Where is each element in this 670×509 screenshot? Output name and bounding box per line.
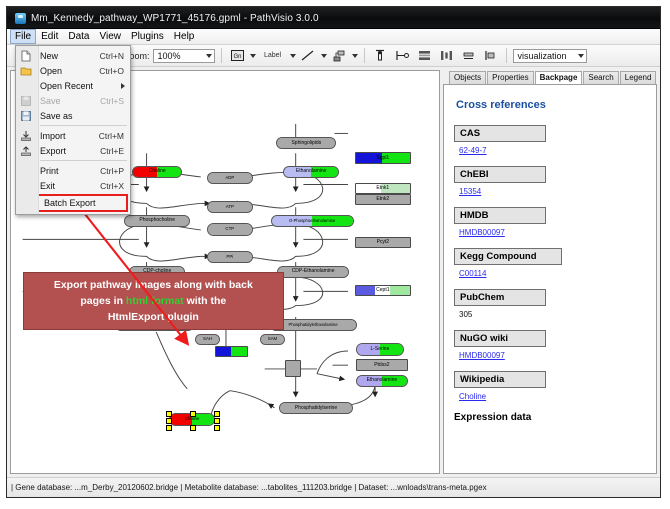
selection-handle[interactable]	[214, 411, 220, 417]
menu-item-save-label: Save	[40, 96, 100, 106]
line-button[interactable]	[299, 46, 318, 65]
node-label: ADP	[225, 176, 234, 180]
callout-line-2b: with the	[184, 295, 227, 307]
xref-header-hmdb: HMDB	[454, 207, 546, 224]
menu-separator	[40, 125, 127, 126]
datanode-button[interactable]: Gn	[228, 46, 247, 65]
datanode-dropdown-icon[interactable]	[250, 54, 256, 58]
node-label: Choline	[185, 417, 200, 421]
metabolite-node-o-phosphoethanolamine[interactable]: O-Phosphoethanolamine	[271, 215, 354, 227]
node-label: PPi	[226, 255, 233, 259]
gene-node-sgpl1[interactable]: Sgpl1	[355, 152, 411, 163]
menu-item-import-label: Import	[40, 131, 99, 141]
metabolite-node-sam[interactable]: SAM	[260, 334, 285, 345]
menu-item-batch-export-label: Batch Export	[44, 198, 126, 208]
metabolite-node-sah[interactable]: SAH	[195, 334, 220, 345]
callout-line-1: Export pathway images along with back	[54, 277, 253, 293]
tab-backpage[interactable]: Backpage	[535, 71, 583, 85]
node-label: Etnk1	[376, 186, 389, 191]
xref-header-chebi: ChEBI	[454, 166, 546, 183]
xref-header-wikipedia: Wikipedia	[454, 371, 546, 388]
menu-item-batch-export[interactable]: Batch Export	[20, 196, 126, 210]
node-label: Phosphocholine	[139, 218, 175, 223]
menu-item-save: Save Ctrl+S	[16, 93, 130, 108]
node-label: O-Phosphoethanolamine	[289, 219, 335, 223]
node-label: Sphingolipids	[291, 141, 321, 146]
xref-header-kegg: Kegg Compound	[454, 248, 562, 265]
chevron-down-icon	[206, 54, 212, 58]
menu-item-open-recent[interactable]: Open Recent	[16, 78, 130, 93]
tab-legend[interactable]: Legend	[620, 71, 657, 84]
cross-references-title: Cross references	[456, 99, 646, 111]
menu-item-new[interactable]: New Ctrl+N	[16, 48, 130, 63]
tab-objects[interactable]: Objects	[449, 71, 486, 84]
selection-handle[interactable]	[166, 425, 172, 431]
xref-value-chebi[interactable]: 15354	[459, 187, 646, 196]
xref-header-pubchem: PubChem	[454, 289, 546, 306]
backpage-content[interactable]: Cross references CAS 62-49-7 ChEBI 15354…	[443, 84, 657, 474]
menu-file[interactable]: File	[10, 29, 36, 44]
visualization-value: visualization	[518, 51, 567, 61]
metabolite-node-phosphatidylserine[interactable]: Phosphatidylserine	[279, 402, 353, 414]
menu-item-print-label: Print	[40, 166, 100, 176]
metabolite-node-ethanolamine[interactable]: Ethanolamine	[356, 375, 408, 387]
node-label: Ethanolamine	[296, 169, 327, 174]
menu-item-export-accel: Ctrl+E	[100, 146, 130, 156]
menu-separator	[40, 160, 127, 161]
label-button-text: Label	[264, 52, 281, 59]
save-disk-icon	[20, 95, 32, 107]
node-label: Choline	[149, 169, 166, 174]
tab-search[interactable]: Search	[583, 71, 618, 84]
menu-bar[interactable]: File Edit Data View Plugins Help	[7, 29, 660, 45]
node-label: ATP	[226, 205, 234, 209]
selection-handle[interactable]	[166, 411, 172, 417]
node-label: Ethanolamine	[367, 378, 398, 383]
toolbar-separator	[221, 48, 222, 63]
save-as-icon	[20, 110, 32, 122]
xref-value-nugo[interactable]: HMDB00097	[459, 351, 646, 360]
visualization-combobox[interactable]: visualization	[513, 49, 587, 63]
menu-item-print-accel: Ctrl+P	[100, 166, 130, 176]
metabolite-node-choline[interactable]: Choline	[132, 166, 182, 178]
zoom-combobox[interactable]: 100%	[153, 49, 215, 63]
align-left-button[interactable]	[393, 46, 412, 65]
menu-item-save-as-label: Save as	[40, 111, 124, 121]
menu-item-exit-label: Exit	[40, 181, 100, 191]
stack-vertical-button[interactable]	[415, 46, 434, 65]
gene-node-etnk1[interactable]: Etnk1	[355, 183, 411, 194]
node-label: Sgpl1	[376, 156, 389, 161]
tab-properties[interactable]: Properties	[487, 71, 533, 84]
xref-value-wikipedia[interactable]: Choline	[459, 392, 646, 401]
node-label: CTP	[225, 227, 234, 231]
menu-item-open[interactable]: Open Ctrl+O	[16, 63, 130, 78]
menu-item-print[interactable]: Print Ctrl+P	[16, 163, 130, 178]
node-label: SAH	[203, 337, 212, 341]
distribute-horizontal-button[interactable]	[437, 46, 456, 65]
svg-text:Gn: Gn	[233, 54, 241, 60]
gene-node-pcyt2[interactable]: Pcyt2	[355, 237, 411, 248]
menu-item-save-accel: Ctrl+S	[100, 96, 130, 106]
new-document-icon	[20, 50, 32, 62]
node-label: Phosphatidylserine	[295, 406, 337, 411]
pathvisio-icon	[15, 13, 26, 24]
xref-value-kegg[interactable]: C00114	[459, 269, 646, 278]
side-panel: Objects Properties Backpage Search Legen…	[442, 67, 660, 477]
menu-view[interactable]: View	[94, 29, 126, 44]
menu-edit[interactable]: Edit	[36, 29, 63, 44]
toolbar-separator	[364, 48, 365, 63]
node-label: Phosphatidylethanolamine	[289, 323, 338, 327]
menu-item-new-accel: Ctrl+N	[100, 51, 130, 61]
callout-line-3: HtmlExport plugin	[54, 309, 253, 325]
selection-handle[interactable]	[166, 418, 172, 424]
node-fill	[286, 361, 299, 376]
gene-node-unlabeled[interactable]	[285, 360, 300, 377]
side-panel-tabs[interactable]: Objects Properties Backpage Search Legen…	[443, 70, 657, 84]
chevron-down-icon	[578, 54, 584, 58]
batch-export-highlight: Batch Export	[18, 194, 128, 212]
metabolite-node-atp[interactable]: ATP	[207, 201, 253, 213]
node-label: Pcyt2	[377, 240, 390, 245]
status-bar: | Gene database: ...m_Derby_20120602.bri…	[7, 477, 660, 497]
expression-data-title: Expression data	[454, 412, 646, 423]
metabolite-node-ppi[interactable]: PPi	[207, 251, 253, 263]
gene-node-ptdss2[interactable]: Ptdss2	[356, 359, 408, 370]
menu-help[interactable]: Help	[169, 29, 200, 44]
node-label: CDP-Ethanolamine	[292, 269, 335, 274]
import-icon	[20, 130, 32, 142]
gene-node-unlabeled[interactable]	[215, 346, 248, 356]
menu-data[interactable]: Data	[63, 29, 94, 44]
align-top-button[interactable]	[371, 46, 390, 65]
xref-header-cas: CAS	[454, 125, 546, 142]
toolbar-separator	[506, 48, 507, 63]
node-label: Cept1	[376, 288, 389, 293]
menu-item-open-accel: Ctrl+O	[99, 66, 130, 76]
metabolite-node-phosphocholine[interactable]: Phosphocholine	[124, 215, 190, 227]
node-label: SAM	[268, 337, 278, 341]
xref-value-cas[interactable]: 62-49-7	[459, 146, 646, 155]
node-label: L-Serine	[370, 347, 389, 352]
file-menu-dropdown[interactable]: New Ctrl+N Open Ctrl+O Open Recent Save …	[15, 45, 131, 215]
open-folder-icon	[20, 65, 32, 77]
menu-item-open-label: Open	[40, 66, 99, 76]
menu-item-save-as[interactable]: Save as	[16, 108, 130, 123]
menu-item-export-label: Export	[40, 146, 100, 156]
menu-item-export[interactable]: Export Ctrl+E	[16, 143, 130, 158]
callout-highlight: html format	[126, 295, 184, 307]
common-width-button[interactable]	[459, 46, 478, 65]
menu-item-import[interactable]: Import Ctrl+M	[16, 128, 130, 143]
common-height-button[interactable]	[481, 46, 500, 65]
label-button[interactable]: Label	[259, 46, 287, 65]
metabolite-node-ethanolamine[interactable]: Ethanolamine	[283, 166, 339, 178]
gene-node-cept1[interactable]: Cept1	[355, 285, 411, 296]
pathvisio-window: Mm_Kennedy_pathway_WP1771_45176.gpml - P…	[6, 6, 661, 498]
menu-item-import-accel: Ctrl+M	[99, 131, 130, 141]
metabolite-node-adp[interactable]: ADP	[207, 172, 253, 184]
menu-item-exit-accel: Ctrl+X	[100, 181, 130, 191]
xref-header-nugo: NuGO wiki	[454, 330, 546, 347]
metabolite-node-cdp-ethanolamine[interactable]: CDP-Ethanolamine	[277, 266, 349, 278]
screenshot-root: Mm_Kennedy_pathway_WP1771_45176.gpml - P…	[0, 0, 670, 509]
chevron-right-icon	[121, 83, 125, 89]
xref-value-pubchem: 305	[459, 310, 646, 319]
metabolite-node-sphingolipids[interactable]: Sphingolipids	[276, 137, 336, 149]
node-label: Ptdss2	[374, 363, 389, 368]
callout-line-2a: pages in	[80, 295, 126, 307]
gene-node-etnk2[interactable]: Etnk2	[355, 194, 411, 205]
interaction-dropdown-icon[interactable]	[352, 54, 358, 58]
zoom-value: 100%	[158, 51, 181, 61]
export-icon	[20, 145, 32, 157]
status-text: | Gene database: ...m_Derby_20120602.bri…	[7, 483, 487, 492]
node-label: Etnk2	[376, 197, 389, 202]
menu-item-new-label: New	[40, 51, 100, 61]
interaction-button[interactable]	[330, 46, 349, 65]
callout-line-2: pages in html format with the	[54, 293, 253, 309]
node-fill	[216, 347, 247, 355]
menu-item-open-recent-label: Open Recent	[40, 81, 130, 91]
selection-handle[interactable]	[214, 425, 220, 431]
label-dropdown-icon[interactable]	[290, 54, 296, 58]
window-title: Mm_Kennedy_pathway_WP1771_45176.gpml - P…	[31, 13, 319, 24]
title-bar: Mm_Kennedy_pathway_WP1771_45176.gpml - P…	[7, 7, 660, 29]
selection-handle[interactable]	[214, 418, 220, 424]
xref-value-hmdb[interactable]: HMDB00097	[459, 228, 646, 237]
menu-item-exit[interactable]: Exit Ctrl+X	[16, 178, 130, 193]
metabolite-node-l-serine[interactable]: L-Serine	[356, 343, 404, 355]
metabolite-node-ctp[interactable]: CTP	[207, 223, 253, 235]
line-dropdown-icon[interactable]	[321, 54, 327, 58]
annotation-callout: Export pathway images along with back pa…	[23, 272, 284, 331]
selection-handle[interactable]	[190, 425, 196, 431]
menu-plugins[interactable]: Plugins	[126, 29, 169, 44]
